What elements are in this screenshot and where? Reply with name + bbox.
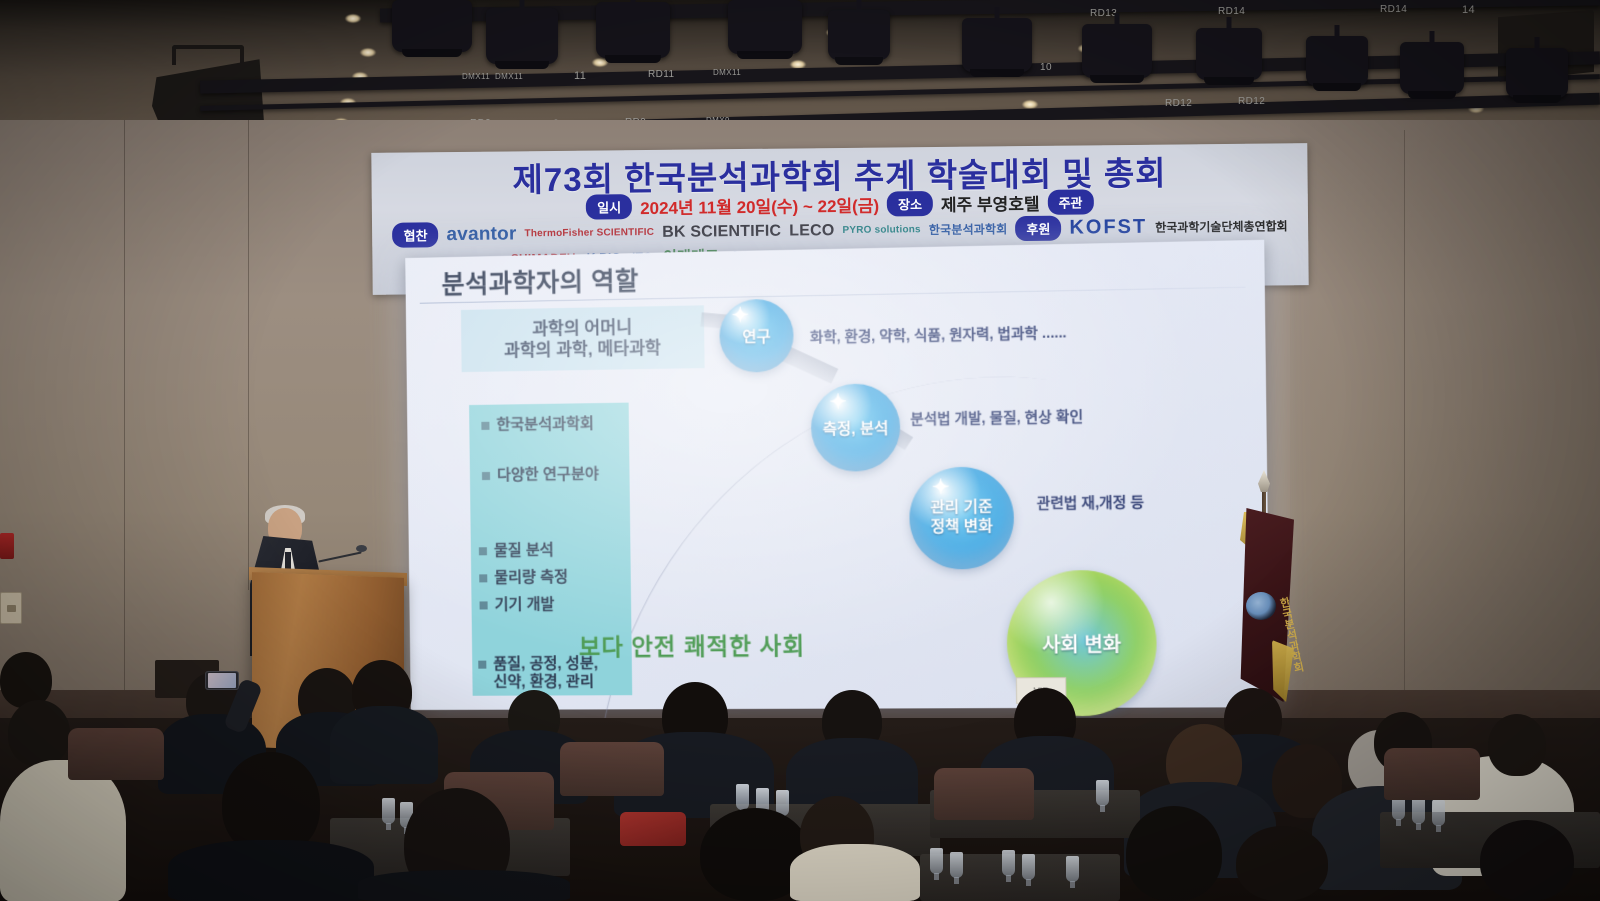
bubble-label: 측정, 분석 (823, 416, 889, 438)
bullet-marker-icon (480, 601, 488, 609)
banner-date-value: 2024년 11월 20일(수) ~ 22일(금) (640, 192, 879, 220)
bullet-item: 물리량 측정 (494, 569, 568, 588)
chair (934, 768, 1034, 820)
truss-label: RD11 (648, 69, 674, 80)
bubble-label-line2: 정책 변화 (931, 518, 993, 538)
mother-box-line1: 과학의 어머니 (532, 317, 632, 340)
audience-head (1480, 820, 1574, 901)
conference-hall-photo: DMX11 DMX11 11 RD11 DMX11 RD9 9 RD9 DMX9… (0, 0, 1600, 901)
truss-label: RD12 (1165, 98, 1192, 109)
bullet-marker-icon (481, 422, 489, 430)
stage-light (828, 10, 890, 60)
water-glass (1096, 780, 1109, 806)
bubble-label: 연구 (742, 325, 771, 347)
truss-label: DMX11 (495, 72, 523, 81)
audience-body (330, 706, 438, 784)
bullet-marker-icon (479, 574, 487, 582)
side-text-fields: 화학, 환경, 약학, 식품, 원자력, 법과학 ...... (810, 322, 1067, 347)
fire-alarm (0, 533, 14, 559)
bullet-item: 한국분석과학회 (496, 415, 594, 435)
water-glass (1412, 798, 1425, 824)
truss-label: RD13 (1090, 8, 1117, 19)
water-glass (736, 784, 749, 810)
sparkle-icon: ✦ (932, 477, 950, 498)
audience-head (1488, 714, 1546, 776)
stage-light (392, 0, 472, 52)
audience-head (1126, 806, 1222, 901)
chair (560, 742, 664, 796)
smartphone-screen (208, 673, 236, 688)
audience-body-light (790, 844, 920, 901)
side-text-methods: 분석법 개발, 물질, 현상 확인 (910, 406, 1083, 429)
chair (68, 728, 164, 780)
support-org-logo: KOFST (1069, 216, 1147, 240)
stage-light (1306, 36, 1368, 86)
sparkle-icon: ✦ (829, 392, 847, 413)
mother-of-science-box: 과학의 어머니 과학의 과학, 메타과학 (461, 305, 705, 372)
slide-title: 분석과학자의 역할 (441, 261, 639, 301)
water-glass (1002, 850, 1015, 876)
truss-label: 11 (574, 70, 586, 82)
bullet-marker-icon (478, 661, 486, 669)
ceiling-downlight (345, 14, 361, 23)
banner-sponsor-label: 협찬 (392, 222, 438, 247)
red-handbag (620, 812, 686, 846)
side-text-regulation: 관련법 재,개정 등 (1037, 491, 1145, 513)
sponsor-logo: ThermoFisher SCIENTIFIC (524, 227, 654, 239)
water-glass (950, 852, 963, 878)
sponsor-logo: BK SCIENTIFIC (662, 222, 781, 241)
stage-light (486, 8, 558, 64)
truss-label: 14 (1462, 4, 1475, 16)
wall-seam (124, 120, 125, 700)
stage-light (596, 2, 670, 58)
water-glass (1432, 800, 1445, 826)
bullet-item: 다양한 연구분야 (497, 466, 599, 485)
bubble-label: 사회 변화 (1042, 629, 1122, 657)
mother-box-line2: 과학의 과학, 메타과학 (504, 337, 661, 361)
stage-light (728, 0, 802, 54)
microphone-icon (356, 545, 367, 552)
banner-host-label: 주관 (1047, 189, 1093, 214)
banner-place-label: 장소 (887, 191, 933, 216)
bubble-policy-change: ✦ 관리 기준 정책 변화 (909, 466, 1015, 569)
bullet-marker-icon (479, 547, 487, 555)
ceiling-downlight (360, 48, 376, 57)
water-glass (930, 848, 943, 874)
stage-light (1196, 28, 1262, 80)
truss-label: DMX11 (713, 68, 741, 77)
truss-label: DMX11 (462, 72, 490, 81)
bullet-item: 기기 개발 (495, 596, 555, 615)
bullet-item: 물질 분석 (494, 542, 554, 561)
host-org-name: 한국분석과학회 (929, 220, 1008, 238)
chair (1384, 748, 1480, 800)
banner-date-label: 일시 (586, 194, 632, 219)
bubble-measurement-analysis: ✦ 측정, 분석 (811, 383, 901, 472)
bullet-marker-icon (482, 472, 490, 480)
truss-label: RD14 (1218, 6, 1245, 17)
banner-support-label: 후원 (1015, 216, 1061, 241)
support-org-name: 한국과학기술단체총연합회 (1155, 217, 1288, 235)
audience-head (1236, 826, 1328, 901)
water-glass (382, 798, 395, 824)
water-glass (1066, 856, 1079, 882)
sponsor-logo: PYRO solutions (842, 224, 920, 236)
wall-seam (248, 120, 249, 590)
sponsor-logo: avantor (446, 223, 516, 246)
audience-head (8, 700, 70, 766)
green-slogan: 보다 안전 쾌적한 사회 (579, 626, 806, 662)
truss-label: RD14 (1380, 4, 1407, 15)
banner-place-value: 제주 부영호텔 (941, 190, 1040, 216)
audience-body-light (0, 760, 126, 901)
audience-body (358, 870, 570, 901)
wall-shadow (1290, 120, 1600, 720)
stage-light (1082, 24, 1152, 78)
speaker-mount-bracket (172, 45, 244, 65)
bullet-item: 신약, 환경, 관리 (493, 673, 598, 692)
slide-surface: 분석과학자의 역할 과학의 어머니 과학의 과학, 메타과학 한국분석과학회 다… (405, 240, 1270, 710)
stage-light (1506, 48, 1568, 98)
projection-screen: 분석과학자의 역할 과학의 어머니 과학의 과학, 메타과학 한국분석과학회 다… (405, 240, 1270, 710)
truss-label: RD12 (1238, 96, 1265, 107)
sparkle-icon: ✦ (732, 305, 749, 326)
sponsor-logo: LECO (789, 222, 834, 240)
water-glass (1022, 854, 1035, 880)
truss-label: 10 (1040, 62, 1052, 73)
audience-body (168, 840, 374, 901)
stage-light (962, 18, 1032, 72)
bubble-label-line1: 관리 기준 (930, 499, 992, 519)
wall-outlet (0, 592, 22, 624)
stage-light (1400, 42, 1464, 94)
